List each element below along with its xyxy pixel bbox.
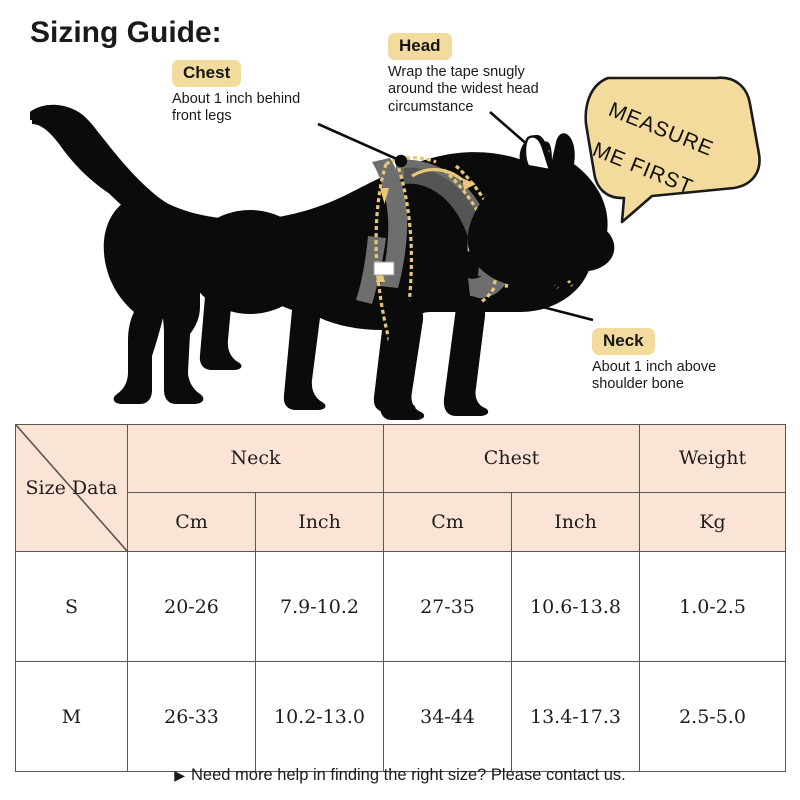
sizing-guide-page: Sizing Guide: — [0, 0, 800, 800]
cell-chest-inch: 10.6-13.8 — [512, 552, 640, 662]
callout-head-badge: Head — [388, 33, 452, 60]
cell-size: M — [16, 662, 128, 772]
callout-chest: Chest About 1 inch behind front legs — [172, 60, 300, 126]
speech-bubble — [578, 62, 778, 237]
cell-size: S — [16, 552, 128, 662]
callout-neck-description: About 1 inch above shoulder bone — [592, 359, 716, 394]
cat-silhouette — [32, 108, 203, 404]
table-group-weight: Weight — [640, 425, 786, 493]
size-table-body: S 20-26 7.9-10.2 27-35 10.6-13.8 1.0-2.5… — [16, 552, 786, 772]
tape-buckle-chest — [374, 262, 394, 275]
callout-chest-badge: Chest — [172, 60, 241, 87]
callout-head: Head Wrap the tape snugly around the wid… — [388, 33, 539, 117]
leader-dot-neck — [497, 290, 509, 302]
speech-bubble-shape — [586, 78, 760, 222]
table-unit-weight-kg: Kg — [640, 492, 786, 551]
table-group-chest: Chest — [384, 425, 640, 493]
table-group-neck: Neck — [128, 425, 384, 493]
callout-head-description: Wrap the tape snugly around the widest h… — [388, 64, 539, 117]
table-unit-chest-inch: Inch — [512, 492, 640, 551]
size-table-head: Size Data Neck Chest Weight Cm Inch Cm I… — [16, 425, 786, 552]
leader-line-chest — [318, 124, 399, 160]
cell-weight-kg: 1.0-2.5 — [640, 552, 786, 662]
cell-neck-inch: 10.2-13.0 — [256, 662, 384, 772]
callout-chest-description: About 1 inch behind front legs — [172, 91, 300, 126]
cell-chest-cm: 27-35 — [384, 552, 512, 662]
callout-neck: Neck About 1 inch above shoulder bone — [592, 328, 716, 394]
table-unit-chest-cm: Cm — [384, 492, 512, 551]
cell-chest-cm: 34-44 — [384, 662, 512, 772]
footer-note: ▶Need more help in finding the right siz… — [0, 766, 800, 785]
leader-dot-chest — [395, 155, 407, 167]
cell-chest-inch: 13.4-17.3 — [512, 662, 640, 772]
table-row: S 20-26 7.9-10.2 27-35 10.6-13.8 1.0-2.5 — [16, 552, 786, 662]
table-unit-neck-cm: Cm — [128, 492, 256, 551]
cell-weight-kg: 2.5-5.0 — [640, 662, 786, 772]
table-header-row-units: Cm Inch Cm Inch Kg — [16, 492, 786, 551]
table-row: M 26-33 10.2-13.0 34-44 13.4-17.3 2.5-5.… — [16, 662, 786, 772]
cat-haunch — [188, 210, 312, 314]
size-table: Size Data Neck Chest Weight Cm Inch Cm I… — [15, 424, 786, 772]
table-unit-neck-inch: Inch — [256, 492, 384, 551]
cat-front-legs — [380, 296, 488, 420]
table-header-row-groups: Size Data Neck Chest Weight — [16, 425, 786, 493]
cell-neck-cm: 20-26 — [128, 552, 256, 662]
cell-neck-inch: 7.9-10.2 — [256, 552, 384, 662]
callout-neck-badge: Neck — [592, 328, 655, 355]
table-corner-label: Size Data — [17, 426, 126, 550]
triangle-right-icon: ▶ — [174, 767, 185, 783]
cell-neck-cm: 26-33 — [128, 662, 256, 772]
table-corner-cell: Size Data — [16, 425, 128, 552]
footer-note-text: Need more help in finding the right size… — [191, 766, 626, 784]
